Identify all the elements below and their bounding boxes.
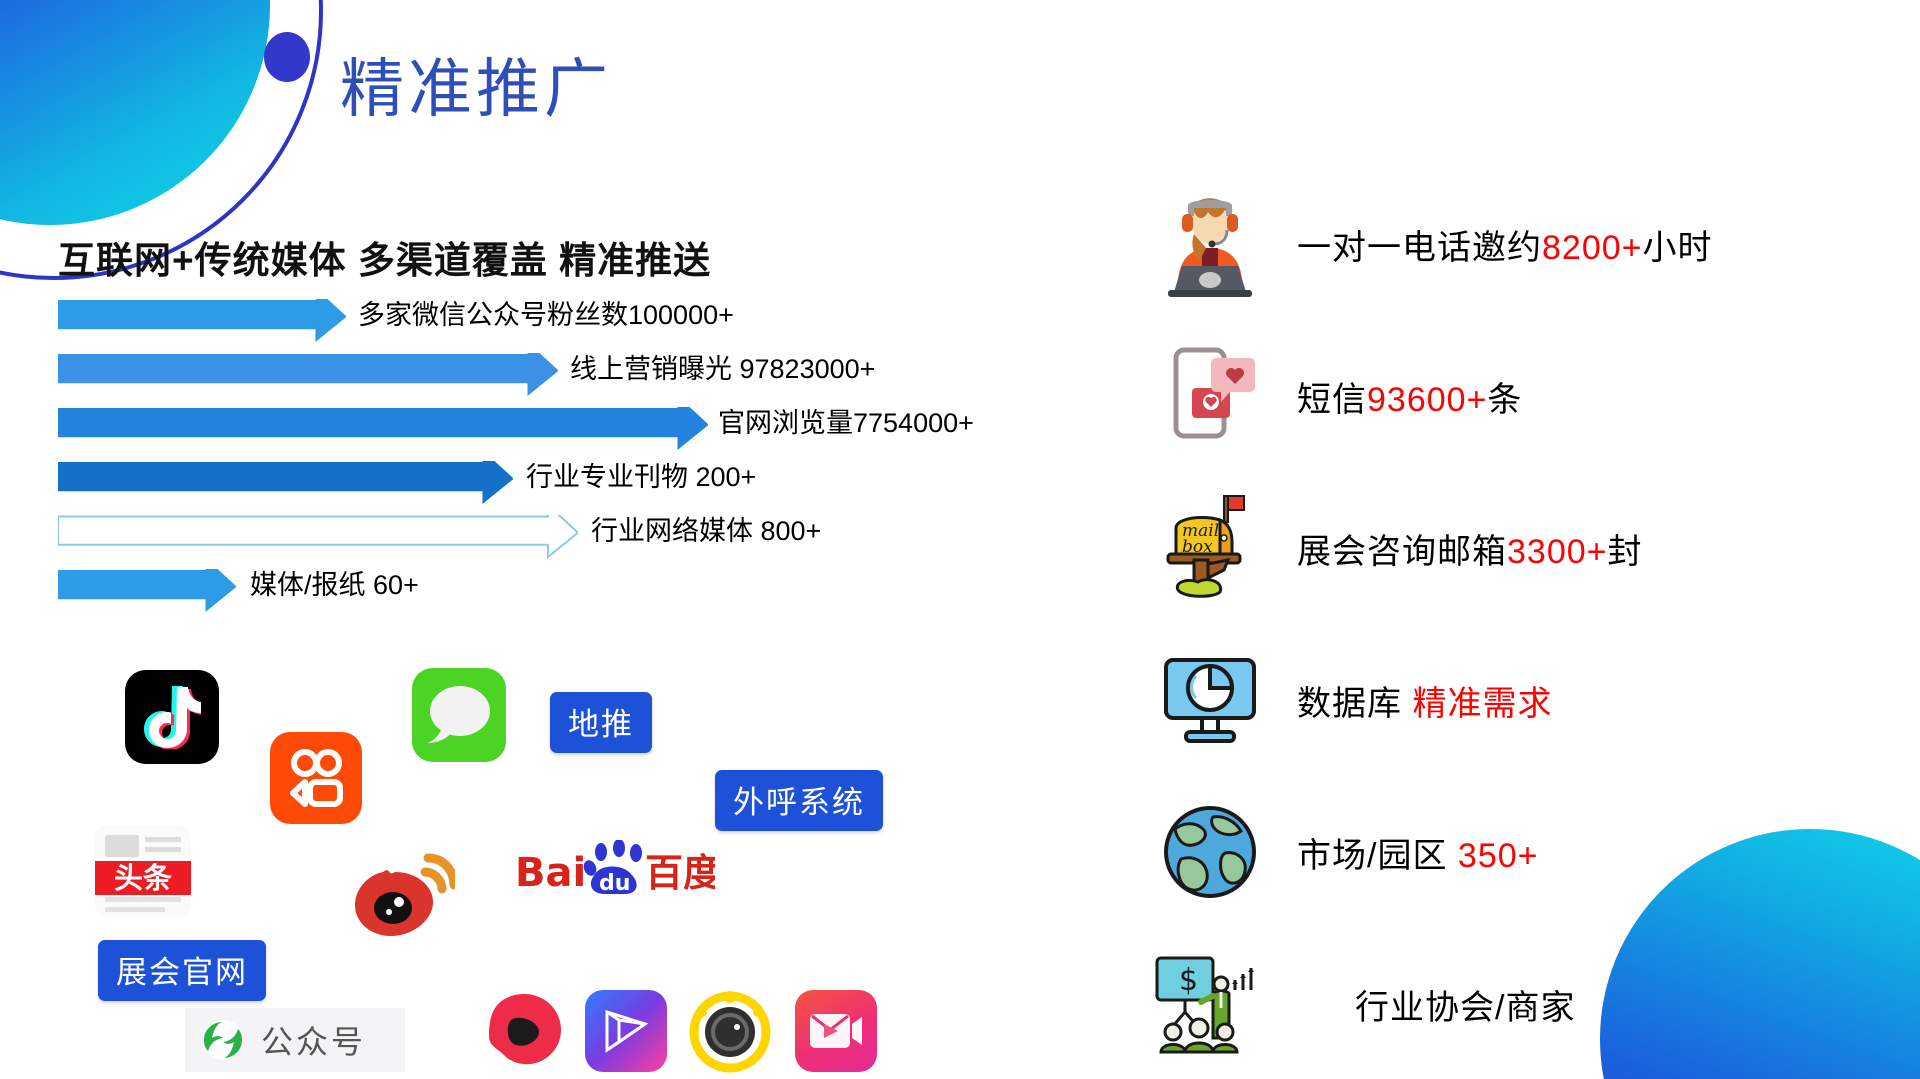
logo-cloud: 头条 Bai du 百度 xyxy=(40,640,920,1070)
stat-suffix: 封 xyxy=(1608,533,1643,571)
arrow-shape xyxy=(58,569,236,603)
arrow-shape xyxy=(58,461,513,495)
stat-label: 行业协会/商家 xyxy=(1355,980,1575,1029)
stat-row: $行业协会/商家 xyxy=(1145,928,1905,1079)
stat-row: mailbox展会咨询邮箱3300+封 xyxy=(1145,472,1905,624)
stat-label: 一对一电话邀约8200+小时 xyxy=(1297,220,1713,269)
sms-message-icon xyxy=(1145,344,1275,448)
gongzhonghao-logo[interactable]: 公众号 xyxy=(185,1008,405,1072)
stat-row: 数据库 精准需求 xyxy=(1145,624,1905,776)
database-monitor-icon xyxy=(1158,654,1262,746)
stat-highlight: 93600+ xyxy=(1367,381,1487,419)
arrow-label: 媒体/报纸 60+ xyxy=(250,566,419,604)
stat-row: 短信93600+条 xyxy=(1145,320,1905,472)
arrow-label: 官网浏览量7754000+ xyxy=(718,404,974,442)
weibo-logo[interactable] xyxy=(355,850,455,940)
stat-highlight: 3300+ xyxy=(1507,533,1608,571)
arrow-shape xyxy=(58,353,558,387)
decorative-dot xyxy=(264,32,310,82)
arrow-row: 媒体/报纸 60+ xyxy=(58,565,1138,617)
arrow-label: 线上营销曝光 97823000+ xyxy=(570,350,875,388)
arrow-shape xyxy=(58,407,708,441)
gongzhonghao-label: 公众号 xyxy=(261,1017,366,1063)
right-stats-column: 一对一电话邀约8200+小时短信93600+条mailbox展会咨询邮箱3300… xyxy=(1145,168,1905,1079)
toutiao-logo[interactable]: 头条 xyxy=(95,825,191,917)
mailbox-icon: mailbox xyxy=(1158,494,1262,602)
arrow-row: 线上营销曝光 97823000+ xyxy=(58,349,1138,401)
stat-highlight: 精准需求 xyxy=(1412,685,1552,723)
baidu-wordmark-icon: Bai du 百度 xyxy=(515,840,715,902)
stat-prefix: 短信 xyxy=(1297,381,1367,419)
arrow-label: 行业专业刊物 200+ xyxy=(526,458,756,496)
arrow-row: 行业网络媒体 800+ xyxy=(58,511,1138,563)
arrow-label: 行业网络媒体 800+ xyxy=(591,512,821,550)
stat-row: 一对一电话邀约8200+小时 xyxy=(1145,168,1905,320)
stat-prefix: 市场/园区 xyxy=(1297,837,1458,875)
stat-highlight: 8200+ xyxy=(1542,229,1643,267)
stat-prefix: 展会咨询邮箱 xyxy=(1297,533,1507,571)
badge-waihu[interactable]: 外呼系统 xyxy=(715,770,883,831)
video-prism-app-icon[interactable] xyxy=(585,990,667,1072)
prism-play-icon xyxy=(599,1004,653,1058)
arrow-chart: 多家微信公众号粉丝数100000+线上营销曝光 97823000+官网浏览量77… xyxy=(58,295,1138,619)
stat-suffix: 条 xyxy=(1487,381,1522,419)
red-blob-play-icon xyxy=(483,990,565,1072)
arrow-row: 行业专业刊物 200+ xyxy=(58,457,1138,509)
xiaohongshu-app-icon[interactable] xyxy=(483,990,565,1072)
baidu-bai-text: Bai xyxy=(515,850,586,896)
stat-label: 展会咨询邮箱3300+封 xyxy=(1297,524,1643,573)
arrow-row: 官网浏览量7754000+ xyxy=(58,403,1138,455)
presentation-audience-icon: $ xyxy=(1151,952,1269,1056)
left-headline: 互联网+传统媒体 多渠道覆盖 精准推送 xyxy=(58,230,711,284)
camera-app-icon[interactable] xyxy=(688,990,772,1074)
stat-label: 市场/园区 350+ xyxy=(1297,828,1539,877)
weibo-eye-icon xyxy=(355,850,455,940)
arrow-shape xyxy=(58,515,578,549)
stat-highlight: 350+ xyxy=(1458,837,1539,875)
speech-bubble-icon xyxy=(422,680,496,750)
stat-prefix: 数据库 xyxy=(1297,685,1412,723)
stat-row: 市场/园区 350+ xyxy=(1145,776,1905,928)
slide-root: 精准推广 互联网+传统媒体 多渠道覆盖 精准推送 多家微信公众号粉丝数10000… xyxy=(0,0,1920,1079)
arrow-shape xyxy=(58,299,346,333)
sms-message-icon xyxy=(1162,344,1258,448)
toutiao-news-icon: 头条 xyxy=(95,825,191,917)
kuaishou-camera-icon xyxy=(285,749,347,807)
douyin-logo[interactable] xyxy=(125,670,219,764)
arrow-row: 多家微信公众号粉丝数100000+ xyxy=(58,295,1138,347)
yellow-camera-lens-icon xyxy=(688,990,772,1074)
page-title: 精准推广 xyxy=(340,38,612,130)
stat-label: 短信93600+条 xyxy=(1297,372,1522,421)
video-envelope-icon xyxy=(808,1010,864,1052)
globe-icon xyxy=(1161,803,1259,901)
mailbox-icon: mailbox xyxy=(1145,494,1275,602)
stat-label: 数据库 精准需求 xyxy=(1297,676,1552,725)
baidu-du-text: du xyxy=(599,871,630,896)
svg-text:头条: 头条 xyxy=(114,861,172,895)
douyin-note-icon xyxy=(143,685,201,749)
stat-prefix: 一对一电话邀约 xyxy=(1297,229,1542,267)
arrow-label: 多家微信公众号粉丝数100000+ xyxy=(358,296,734,334)
video-mail-app-icon[interactable] xyxy=(795,990,877,1072)
stat-prefix: 行业协会/商家 xyxy=(1355,989,1575,1027)
badge-guanwang[interactable]: 展会官网 xyxy=(98,940,266,1001)
customer-service-agent-icon xyxy=(1158,190,1262,298)
imessage-logo[interactable] xyxy=(412,668,506,762)
baidu-logo[interactable]: Bai du 百度 xyxy=(515,840,715,902)
badge-ditui[interactable]: 地推 xyxy=(550,692,652,753)
globe-icon xyxy=(1145,803,1275,901)
svg-text:$: $ xyxy=(1179,963,1198,998)
kuaishou-logo[interactable] xyxy=(270,732,362,824)
presentation-audience-icon: $ xyxy=(1145,952,1275,1056)
stat-suffix: 小时 xyxy=(1643,229,1713,267)
baidu-cn-text: 百度 xyxy=(645,851,715,895)
wechat-official-swirl-icon xyxy=(199,1016,247,1064)
database-monitor-icon xyxy=(1145,654,1275,746)
customer-service-agent-icon xyxy=(1145,190,1275,298)
